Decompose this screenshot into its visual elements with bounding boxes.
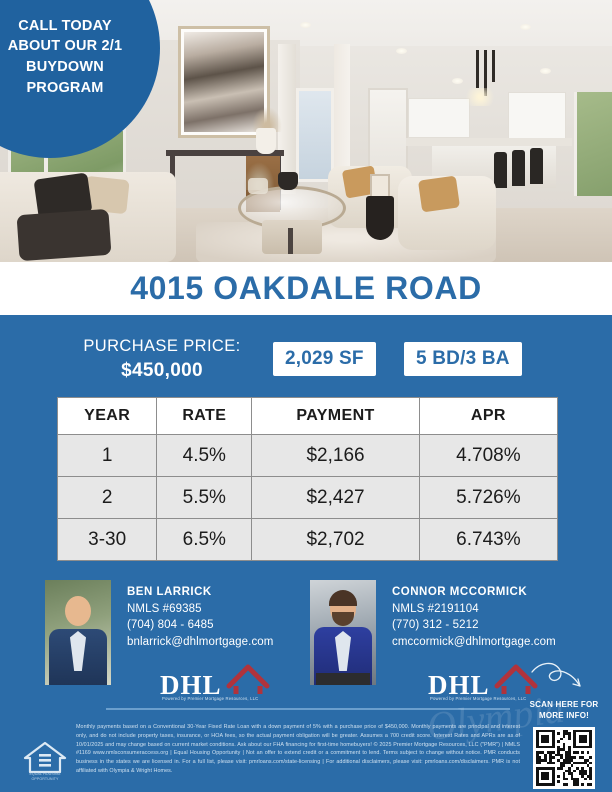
cell-year: 3-30 (58, 519, 157, 561)
column-header-rate: RATE (157, 398, 252, 435)
agent-phone[interactable]: (704) 804 - 6485 (127, 619, 273, 631)
table-row: 3-30 6.5% $2,702 6.743% (58, 519, 558, 561)
cell-year: 2 (58, 477, 157, 519)
column-header-year: YEAR (58, 398, 157, 435)
beds-baths-badge: 5 BD/3 BA (404, 342, 522, 376)
square-footage-badge: 2,029 SF (273, 342, 376, 376)
promo-badge-text: CALL TODAY ABOUT OUR 2/1 BUYDOWN PROGRAM (0, 16, 140, 98)
agent-headshot (310, 580, 376, 685)
table-row: 2 5.5% $2,427 5.726% (58, 477, 558, 519)
cell-apr: 4.708% (419, 435, 557, 477)
agent-email[interactable]: cmccormick@dhlmortgage.com (392, 636, 556, 648)
purchase-price-value: $450,000 (62, 360, 262, 382)
dhl-logo-subtitle: Powered by Premier Mortgage Resources, L… (430, 696, 526, 701)
agent-name: BEN LARRICK (127, 586, 273, 598)
agent-name: CONNOR MCCORMICK (392, 586, 556, 598)
agent-nmls: NMLS #2191104 (392, 603, 556, 615)
cell-year: 1 (58, 435, 157, 477)
purchase-price-label: PURCHASE PRICE: (62, 337, 262, 356)
cell-rate: 4.5% (157, 435, 252, 477)
pricing-row: PURCHASE PRICE: $450,000 2,029 SF 5 BD/3… (0, 337, 612, 389)
rate-table: YEAR RATE PAYMENT APR 1 4.5% $2,166 4.70… (57, 397, 558, 561)
cell-payment: $2,166 (252, 435, 420, 477)
qr-code[interactable] (533, 727, 595, 789)
address-banner: 4015 OAKDALE ROAD (0, 262, 612, 315)
property-address: 4015 OAKDALE ROAD (130, 270, 482, 307)
table-header-row: YEAR RATE PAYMENT APR (58, 398, 558, 435)
scan-line-1: SCAN HERE FOR (524, 700, 604, 711)
scan-here-label: SCAN HERE FOR MORE INFO! (524, 700, 604, 722)
equal-housing-label: EQUAL HOUSING OPPORTUNITY (22, 772, 68, 782)
scan-qr-block: SCAN HERE FOR MORE INFO! (524, 700, 604, 789)
promo-line-3: BUYDOWN (0, 57, 140, 78)
details-panel: PURCHASE PRICE: $450,000 2,029 SF 5 BD/3… (0, 315, 612, 792)
agent-contact-info: CONNOR MCCORMICK NMLS #2191104 (770) 312… (392, 586, 556, 648)
column-header-apr: APR (419, 398, 557, 435)
cell-rate: 5.5% (157, 477, 252, 519)
agent-phone[interactable]: (770) 312 - 5212 (392, 619, 556, 631)
agent-headshot (45, 580, 111, 685)
cell-apr: 6.743% (419, 519, 557, 561)
footer-divider (106, 708, 510, 710)
cell-payment: $2,702 (252, 519, 420, 561)
agent-contact-info: BEN LARRICK NMLS #69385 (704) 804 - 6485… (127, 586, 273, 648)
house-roof-icon (226, 664, 270, 694)
equal-housing-logo: EQUAL HOUSING OPPORTUNITY (22, 740, 68, 784)
property-hero-photo: CALL TODAY ABOUT OUR 2/1 BUYDOWN PROGRAM (0, 0, 612, 262)
column-header-payment: PAYMENT (252, 398, 420, 435)
legal-disclaimer: Monthly payments based on a Conventional… (76, 723, 520, 776)
promo-line-2: ABOUT OUR 2/1 (0, 36, 140, 57)
equal-housing-icon (22, 740, 68, 774)
scan-line-2: MORE INFO! (524, 711, 604, 722)
equal-housing-line-2: OPPORTUNITY (22, 777, 68, 782)
qr-code-matrix (536, 730, 592, 786)
curved-arrow-icon (528, 658, 586, 692)
real-estate-flyer: CALL TODAY ABOUT OUR 2/1 BUYDOWN PROGRAM… (0, 0, 612, 792)
dhl-logo-subtitle: Powered by Premier Mortgage Resources, L… (162, 696, 258, 701)
promo-line-1: CALL TODAY (0, 16, 140, 37)
dhl-logo: DHL Powered by Premier Mortgage Resource… (160, 664, 284, 706)
agent-email[interactable]: bnlarrick@dhlmortgage.com (127, 636, 273, 648)
cell-rate: 6.5% (157, 519, 252, 561)
promo-line-4: PROGRAM (0, 78, 140, 99)
purchase-price-block: PURCHASE PRICE: $450,000 (62, 337, 262, 382)
cell-payment: $2,427 (252, 477, 420, 519)
table-row: 1 4.5% $2,166 4.708% (58, 435, 558, 477)
agent-nmls: NMLS #69385 (127, 603, 273, 615)
cell-apr: 5.726% (419, 477, 557, 519)
